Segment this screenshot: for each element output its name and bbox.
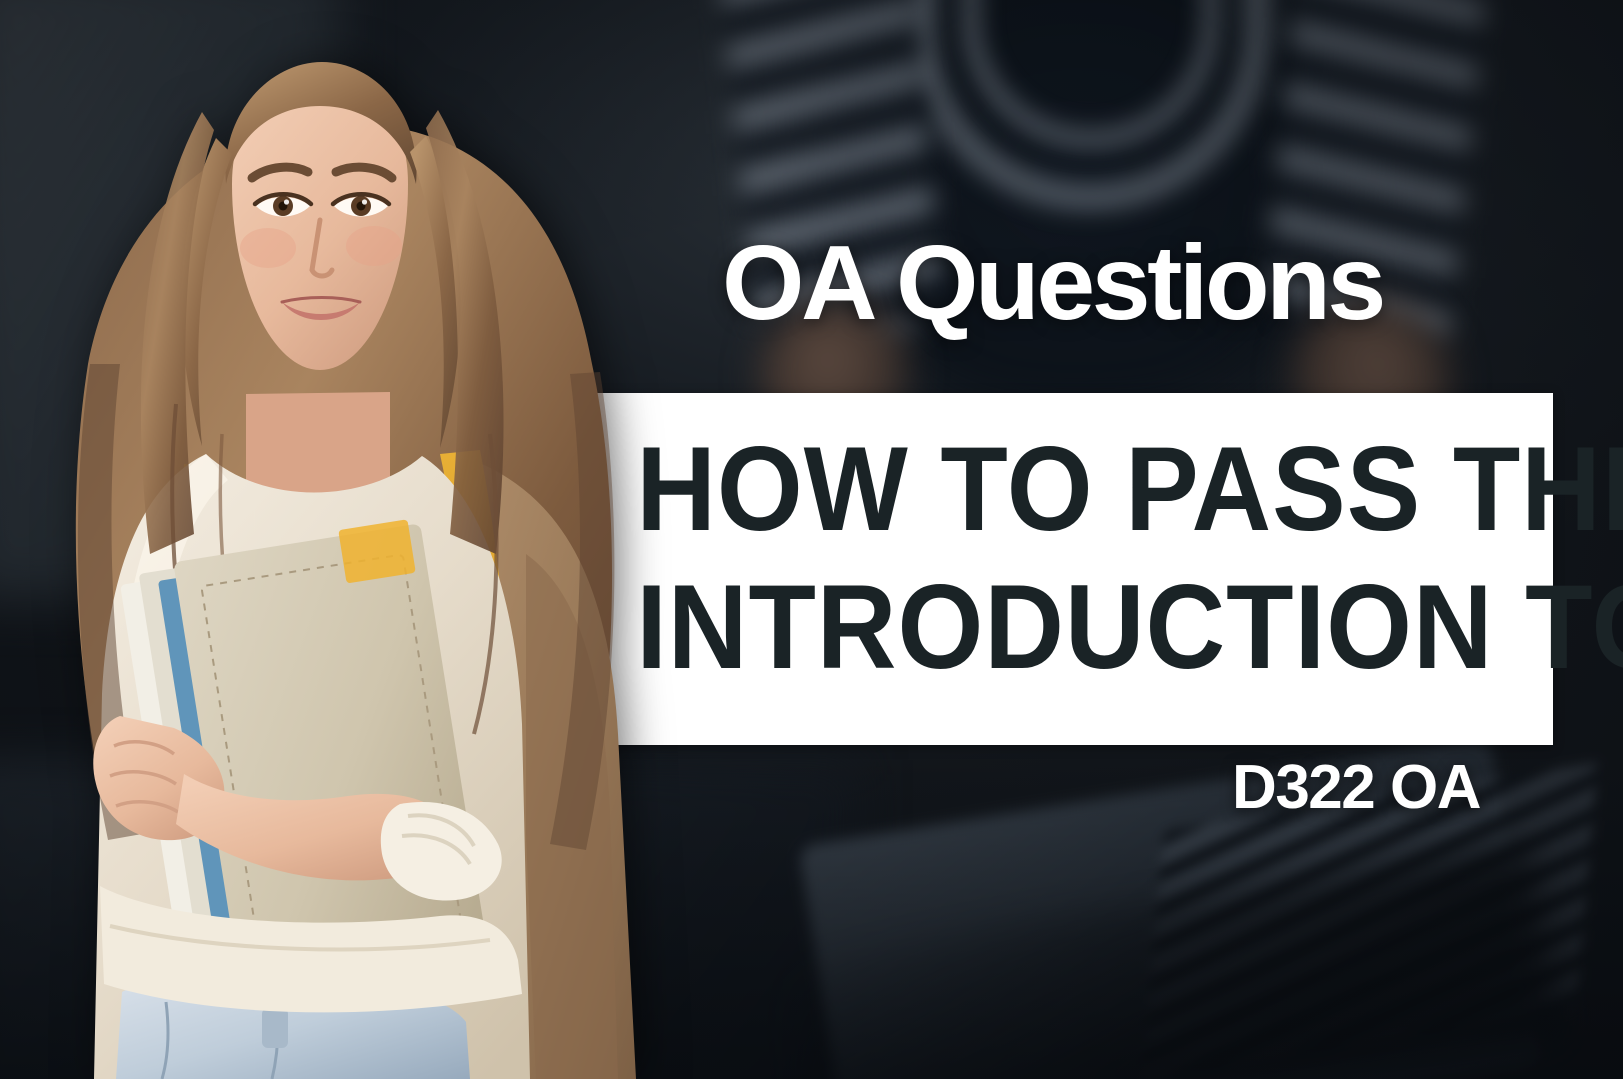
student-illustration [0, 34, 710, 1079]
headline-line-1: HOW TO PASS THE [636, 420, 1547, 558]
kicker-text: OA Questions [722, 228, 1383, 339]
student-photo [0, 34, 710, 1079]
tagline-text: D322 OA [900, 752, 1480, 823]
headline-text: HOW TO PASS THE INTRODUCTION TO IT [636, 420, 1547, 696]
headline-line-2: INTRODUCTION TO IT [636, 558, 1547, 696]
poster-canvas: OA Questions HOW TO PASS THE INTRODUCTIO… [0, 0, 1623, 1079]
